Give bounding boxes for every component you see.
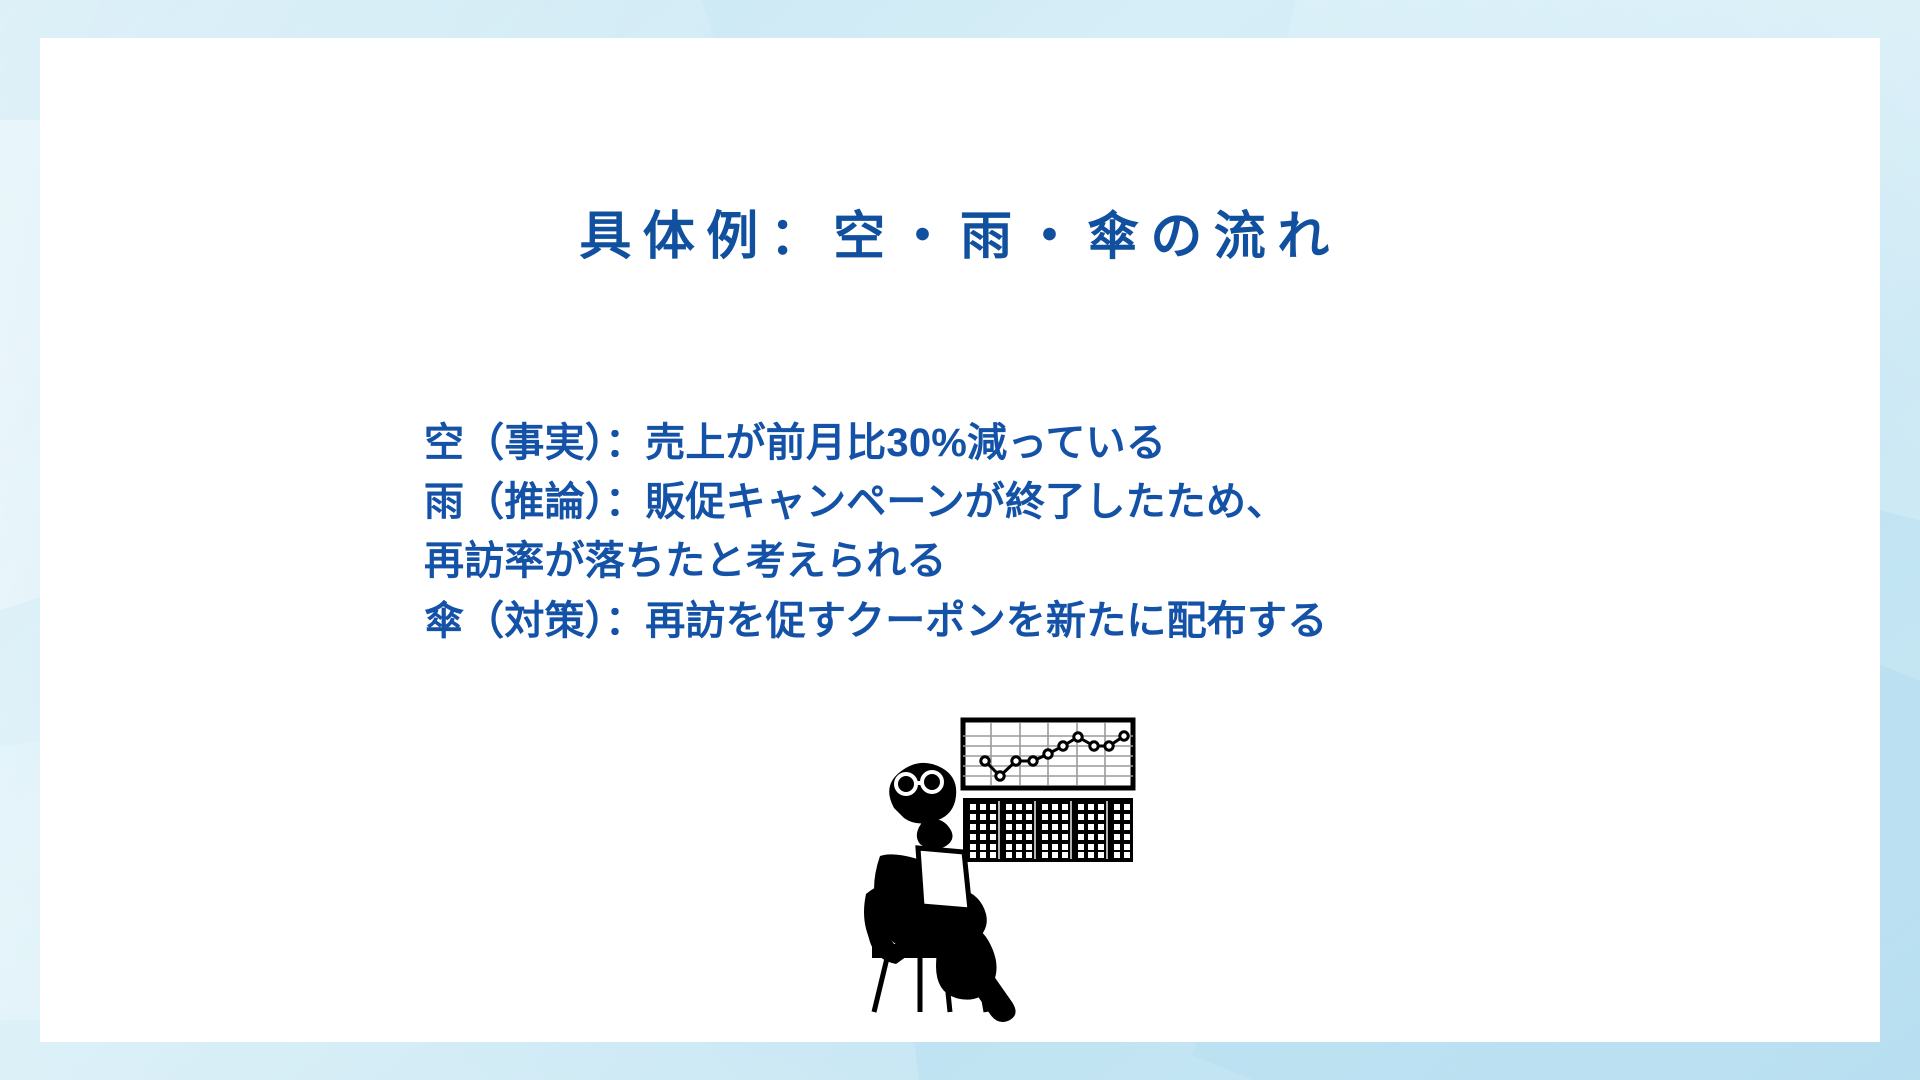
person-in-chair-viewing-data-icon: [858, 716, 1178, 1028]
body-line-ame-inference-cont: 再訪率が落ちたと考えられる: [424, 532, 1327, 591]
tablet-in-hand: [918, 848, 970, 910]
line-chart-panel: [963, 720, 1133, 788]
data-grid-panel: [963, 798, 1133, 862]
body-line-sora-fact: 空（事実）：売上が前月比30%減っている: [424, 414, 1327, 473]
body-line-kasa-action: 傘（対策）：再訪を促すクーポンを新たに配布する: [424, 592, 1327, 651]
slide-content-card: 具体例：空・雨・傘の流れ 空（事実）：売上が前月比30%減っている 雨（推論）：…: [40, 38, 1880, 1042]
slide-body: 空（事実）：売上が前月比30%減っている 雨（推論）：販促キャンペーンが終了した…: [424, 414, 1327, 651]
body-line-ame-inference: 雨（推論）：販促キャンペーンが終了したため、: [424, 473, 1327, 532]
slide: 具体例：空・雨・傘の流れ 空（事実）：売上が前月比30%減っている 雨（推論）：…: [0, 0, 1920, 1080]
slide-title: 具体例：空・雨・傘の流れ: [40, 206, 1880, 268]
